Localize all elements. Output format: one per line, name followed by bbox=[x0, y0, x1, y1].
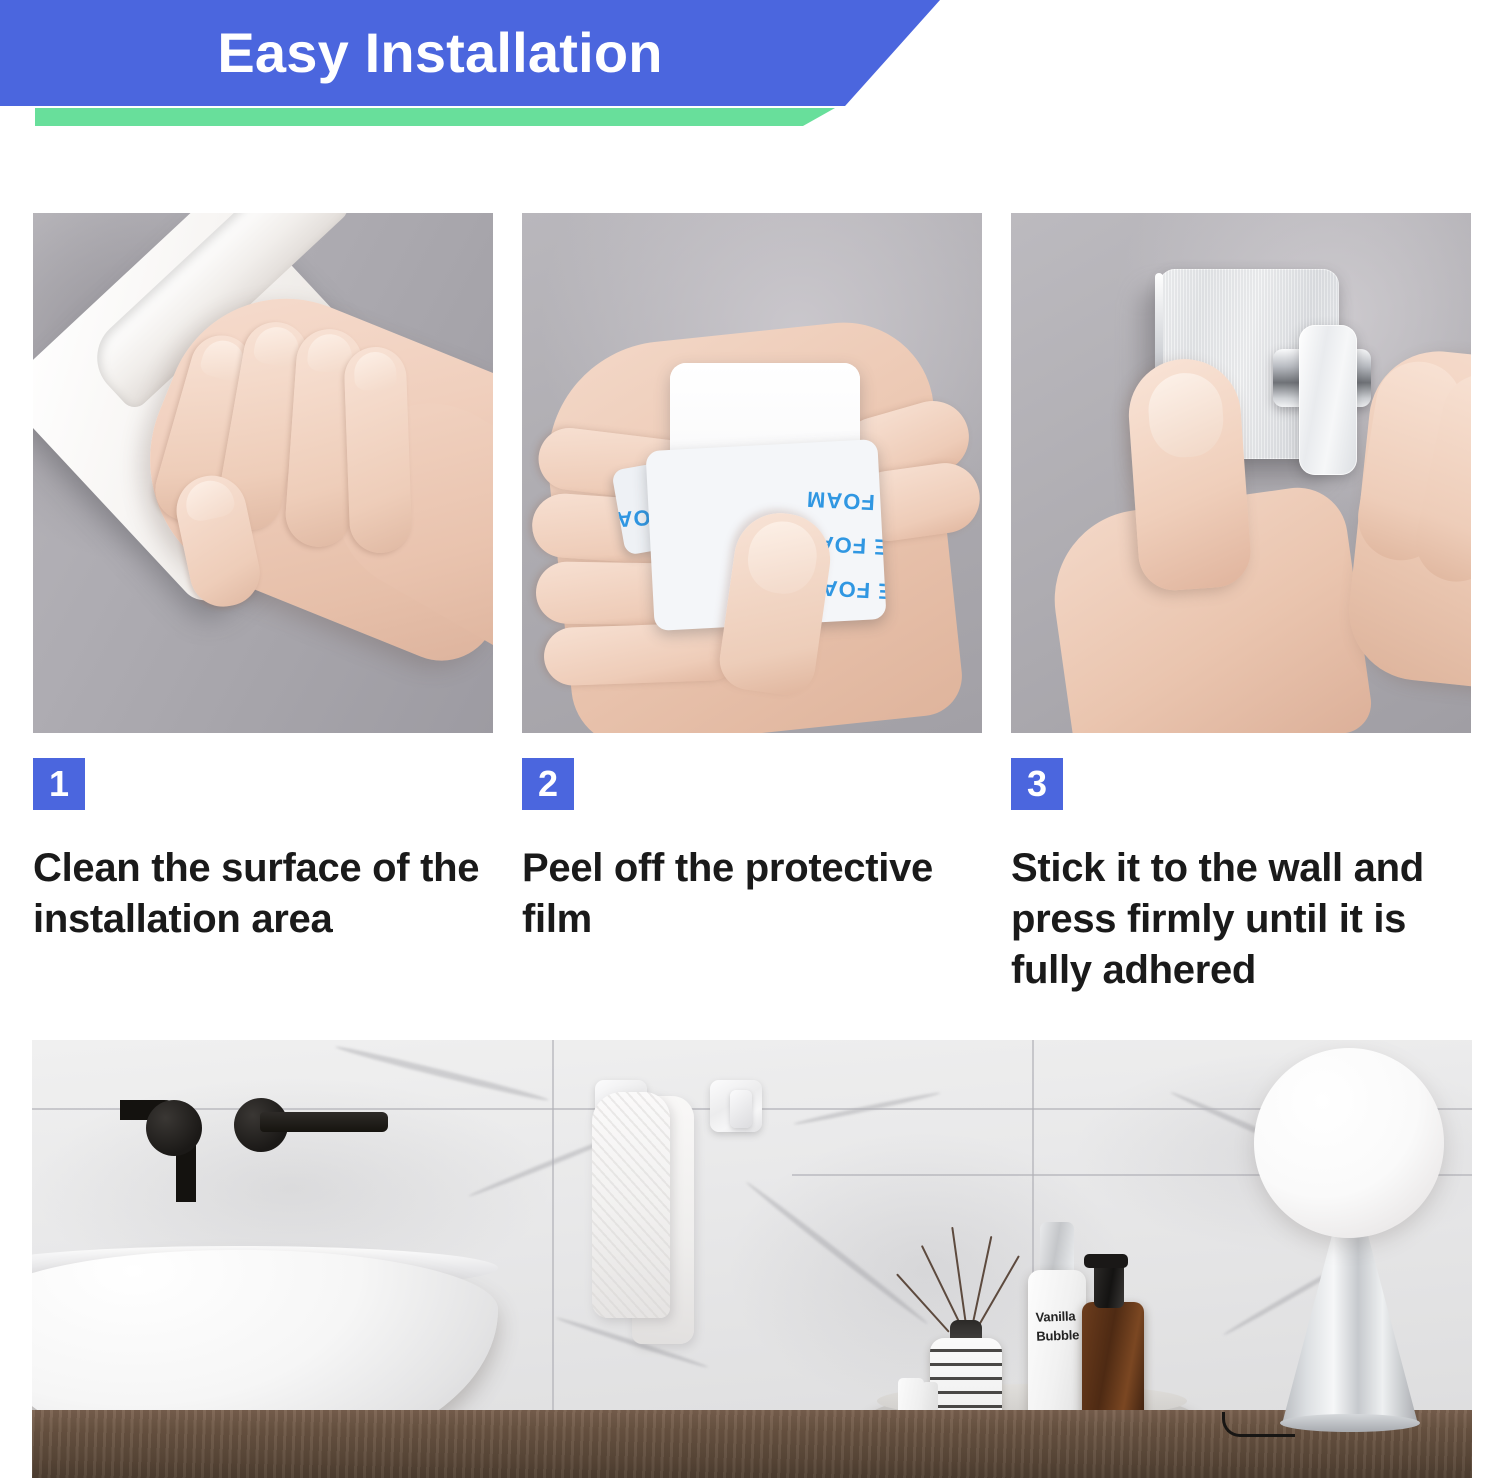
wall-hook-peg bbox=[730, 1090, 752, 1128]
step-2-photo: 3M PE FOAM PE FOAM 3M PE FOAM PE FOAM 3M… bbox=[522, 213, 982, 733]
step-column-2: 3M PE FOAM PE FOAM 3M PE FOAM PE FOAM 3M… bbox=[522, 213, 982, 733]
step-1-photo bbox=[33, 213, 493, 733]
lamp-globe-shade bbox=[1254, 1048, 1444, 1238]
fingernail bbox=[252, 324, 301, 369]
step-column-3: 3 Stick it to the wall and press firmly … bbox=[1011, 213, 1471, 733]
thumb bbox=[1125, 355, 1253, 592]
pump-head-silver bbox=[1040, 1222, 1074, 1276]
tile-grout-line bbox=[552, 1040, 554, 1410]
bottle-label: Vanilla Bubble bbox=[1035, 1307, 1082, 1346]
finger bbox=[543, 622, 741, 687]
pump-head-black bbox=[1094, 1262, 1124, 1308]
lamp-base-foot bbox=[1280, 1414, 1420, 1432]
step-column-1: 1 Clean the surface of the installation … bbox=[33, 213, 493, 733]
faucet-wall-plate bbox=[146, 1100, 202, 1156]
step-number-badge: 2 bbox=[522, 758, 574, 810]
step-caption: Peel off the protective film bbox=[522, 843, 992, 945]
header-banner: Easy Installation bbox=[0, 0, 1500, 140]
thumbnail bbox=[744, 517, 821, 598]
hanging-towel bbox=[592, 1092, 670, 1318]
thumbnail bbox=[182, 476, 236, 523]
finger bbox=[343, 346, 412, 554]
thumbnail bbox=[1146, 371, 1226, 460]
step-number-badge: 3 bbox=[1011, 758, 1063, 810]
striped-vase bbox=[930, 1338, 1002, 1420]
step-number-badge: 1 bbox=[33, 758, 85, 810]
step-caption: Clean the surface of the installation ar… bbox=[33, 843, 503, 945]
faucet-handle-lever bbox=[260, 1112, 388, 1132]
banner-green-accent bbox=[35, 108, 835, 126]
step-caption: Stick it to the wall and press firmly un… bbox=[1011, 843, 1489, 997]
hook-tip bbox=[1299, 325, 1357, 475]
amber-soap-bottle bbox=[1082, 1302, 1144, 1424]
step-3-photo bbox=[1011, 213, 1471, 733]
lifestyle-bathroom-photo: Vanilla Bubble bbox=[32, 1040, 1472, 1478]
fingernail bbox=[353, 351, 396, 390]
page-title: Easy Installation bbox=[0, 0, 880, 106]
